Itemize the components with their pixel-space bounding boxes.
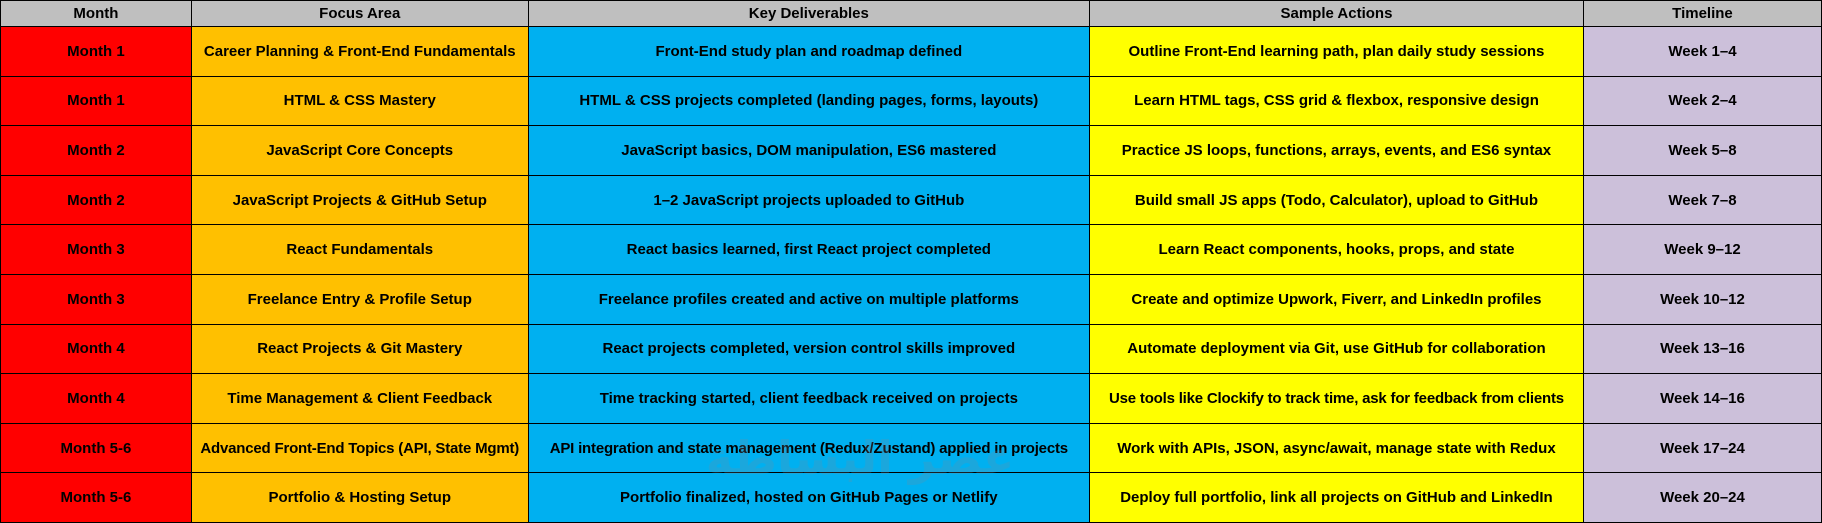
- table-row: Month 1 Career Planning & Front-End Fund…: [1, 27, 1822, 77]
- cell-timeline[interactable]: Week 5–8: [1583, 126, 1821, 176]
- cell-actions[interactable]: Build small JS apps (Todo, Calculator), …: [1089, 175, 1583, 225]
- cell-timeline[interactable]: Week 9–12: [1583, 225, 1821, 275]
- table-row: Month 4 React Projects & Git Mastery Rea…: [1, 324, 1822, 374]
- cell-timeline[interactable]: Week 10–12: [1583, 274, 1821, 324]
- cell-month[interactable]: Month 5-6: [1, 473, 192, 523]
- cell-focus[interactable]: React Projects & Git Mastery: [191, 324, 528, 374]
- cell-actions[interactable]: Automate deployment via Git, use GitHub …: [1089, 324, 1583, 374]
- cell-deliverables[interactable]: Freelance profiles created and active on…: [528, 274, 1089, 324]
- column-header-timeline[interactable]: Timeline: [1583, 1, 1821, 27]
- table-row: Month 5-6 Portfolio & Hosting Setup Port…: [1, 473, 1822, 523]
- table-header: Month Focus Area Key Deliverables Sample…: [1, 1, 1822, 27]
- cell-focus[interactable]: JavaScript Projects & GitHub Setup: [191, 175, 528, 225]
- column-header-deliverables[interactable]: Key Deliverables: [528, 1, 1089, 27]
- cell-deliverables[interactable]: React projects completed, version contro…: [528, 324, 1089, 374]
- cell-deliverables[interactable]: HTML & CSS projects completed (landing p…: [528, 76, 1089, 126]
- header-row: Month Focus Area Key Deliverables Sample…: [1, 1, 1822, 27]
- cell-focus[interactable]: HTML & CSS Mastery: [191, 76, 528, 126]
- cell-timeline[interactable]: Week 13–16: [1583, 324, 1821, 374]
- cell-focus[interactable]: JavaScript Core Concepts: [191, 126, 528, 176]
- cell-focus[interactable]: Advanced Front-End Topics (API, State Mg…: [191, 423, 528, 473]
- cell-month[interactable]: Month 2: [1, 126, 192, 176]
- column-header-month[interactable]: Month: [1, 1, 192, 27]
- table-row: Month 1 HTML & CSS Mastery HTML & CSS pr…: [1, 76, 1822, 126]
- column-header-focus[interactable]: Focus Area: [191, 1, 528, 27]
- table-body: Month 1 Career Planning & Front-End Fund…: [1, 27, 1822, 523]
- cell-focus[interactable]: React Fundamentals: [191, 225, 528, 275]
- cell-actions[interactable]: Use tools like Clockify to track time, a…: [1089, 374, 1583, 424]
- cell-month[interactable]: Month 1: [1, 27, 192, 77]
- cell-timeline[interactable]: Week 7–8: [1583, 175, 1821, 225]
- cell-actions[interactable]: Outline Front-End learning path, plan da…: [1089, 27, 1583, 77]
- table-row: Month 3 React Fundamentals React basics …: [1, 225, 1822, 275]
- cell-deliverables[interactable]: Front-End study plan and roadmap defined: [528, 27, 1089, 77]
- spreadsheet-sheet: Month Focus Area Key Deliverables Sample…: [0, 0, 1822, 523]
- cell-actions[interactable]: Work with APIs, JSON, async/await, manag…: [1089, 423, 1583, 473]
- cell-timeline[interactable]: Week 17–24: [1583, 423, 1821, 473]
- cell-deliverables[interactable]: API integration and state management (Re…: [528, 423, 1089, 473]
- cell-deliverables[interactable]: Portfolio finalized, hosted on GitHub Pa…: [528, 473, 1089, 523]
- cell-month[interactable]: Month 3: [1, 274, 192, 324]
- table-row: Month 3 Freelance Entry & Profile Setup …: [1, 274, 1822, 324]
- table-row: Month 2 JavaScript Core Concepts JavaScr…: [1, 126, 1822, 176]
- cell-deliverables[interactable]: React basics learned, first React projec…: [528, 225, 1089, 275]
- cell-month[interactable]: Month 2: [1, 175, 192, 225]
- cell-focus[interactable]: Freelance Entry & Profile Setup: [191, 274, 528, 324]
- cell-timeline[interactable]: Week 20–24: [1583, 473, 1821, 523]
- cell-month[interactable]: Month 3: [1, 225, 192, 275]
- cell-month[interactable]: Month 4: [1, 374, 192, 424]
- cell-timeline[interactable]: Week 14–16: [1583, 374, 1821, 424]
- table-row: Month 4 Time Management & Client Feedbac…: [1, 374, 1822, 424]
- cell-timeline[interactable]: Week 1–4: [1583, 27, 1821, 77]
- cell-actions[interactable]: Create and optimize Upwork, Fiverr, and …: [1089, 274, 1583, 324]
- cell-month[interactable]: Month 4: [1, 324, 192, 374]
- cell-actions[interactable]: Learn HTML tags, CSS grid & flexbox, res…: [1089, 76, 1583, 126]
- cell-focus[interactable]: Time Management & Client Feedback: [191, 374, 528, 424]
- cell-month[interactable]: Month 5-6: [1, 423, 192, 473]
- cell-actions[interactable]: Practice JS loops, functions, arrays, ev…: [1089, 126, 1583, 176]
- roadmap-table: Month Focus Area Key Deliverables Sample…: [0, 0, 1822, 523]
- table-row: Month 2 JavaScript Projects & GitHub Set…: [1, 175, 1822, 225]
- cell-deliverables[interactable]: JavaScript basics, DOM manipulation, ES6…: [528, 126, 1089, 176]
- cell-deliverables[interactable]: 1–2 JavaScript projects uploaded to GitH…: [528, 175, 1089, 225]
- cell-focus[interactable]: Portfolio & Hosting Setup: [191, 473, 528, 523]
- cell-timeline[interactable]: Week 2–4: [1583, 76, 1821, 126]
- cell-actions[interactable]: Learn React components, hooks, props, an…: [1089, 225, 1583, 275]
- cell-focus[interactable]: Career Planning & Front-End Fundamentals: [191, 27, 528, 77]
- cell-month[interactable]: Month 1: [1, 76, 192, 126]
- cell-deliverables[interactable]: Time tracking started, client feedback r…: [528, 374, 1089, 424]
- column-header-actions[interactable]: Sample Actions: [1089, 1, 1583, 27]
- table-row: Month 5-6 Advanced Front-End Topics (API…: [1, 423, 1822, 473]
- cell-actions[interactable]: Deploy full portfolio, link all projects…: [1089, 473, 1583, 523]
